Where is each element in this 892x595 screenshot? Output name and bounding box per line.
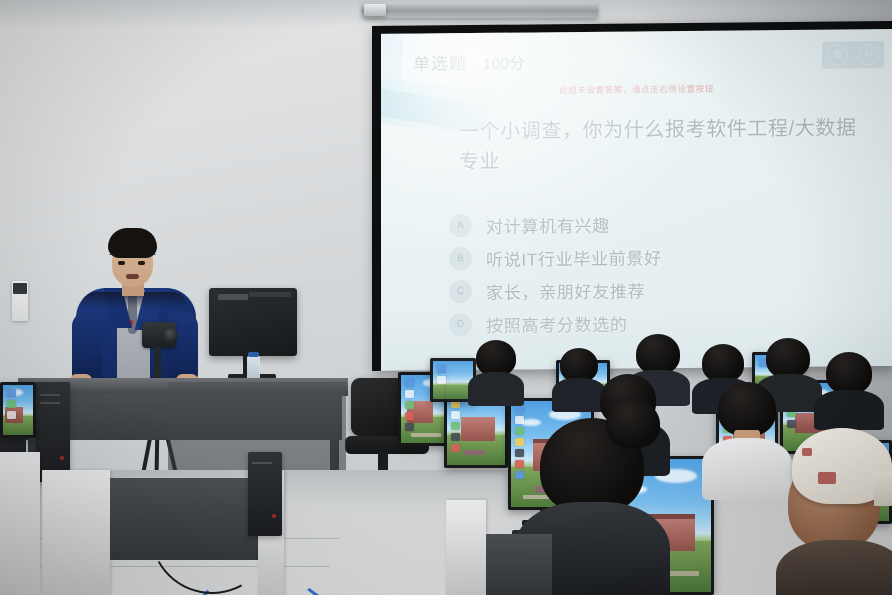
desktop-icon[interactable] <box>7 389 16 397</box>
lecturer <box>76 228 196 388</box>
option-key-b: B <box>449 247 472 270</box>
student-mid-2 <box>718 382 776 478</box>
baseball-cap-logo-2 <box>802 448 812 456</box>
monitor-vent-strip <box>249 292 291 297</box>
desktop-wallpaper <box>3 385 33 435</box>
student-shoulders <box>468 372 524 406</box>
desktop-icon[interactable] <box>405 390 414 398</box>
student-shoulders <box>776 540 892 595</box>
projection-screen-roller <box>362 2 598 18</box>
desktop-icon[interactable] <box>515 438 524 446</box>
desktop-icon[interactable] <box>7 400 16 408</box>
pc-tower-left-1 <box>36 382 70 482</box>
option-text-a: 对计算机有兴趣 <box>486 212 610 238</box>
student-head <box>718 382 776 436</box>
tower-slot <box>40 394 60 396</box>
student-shoulders <box>552 378 606 412</box>
slide-header: 单选题 100分 <box>413 49 525 75</box>
desktop-icon[interactable] <box>405 423 414 431</box>
screenshot-root: 单选题 100分 ⚙ ↻ 此题未设置答案，请点击右侧设置按钮 一个小调查，你为什… <box>0 0 892 595</box>
student-head <box>476 340 516 376</box>
student-head <box>560 348 598 382</box>
water-bottle-cap <box>248 352 259 357</box>
student-head <box>636 334 680 374</box>
desktop-icon[interactable] <box>451 433 460 441</box>
projection-screen: 单选题 100分 ⚙ ↻ 此题未设置答案，请点击右侧设置按钮 一个小调查，你为什… <box>372 21 892 371</box>
settings-gear-icon[interactable]: ⚙ <box>827 44 848 65</box>
desktop-icon[interactable] <box>515 416 524 424</box>
desktop-icon-column[interactable] <box>7 389 20 419</box>
student-back-2 <box>560 348 598 406</box>
desktop-icon[interactable] <box>515 427 524 435</box>
desktop-icon[interactable] <box>405 379 414 387</box>
student-head <box>826 352 872 394</box>
desktop-icon[interactable] <box>437 376 446 384</box>
student-shoulders <box>814 390 884 430</box>
option-b[interactable]: B 听说IT行业毕业前景好 <box>449 238 868 275</box>
lecturer-mouth <box>126 274 139 279</box>
option-text-c: 家长，亲朋好友推荐 <box>486 277 645 304</box>
refresh-timer-icon[interactable]: ↻ <box>858 44 879 65</box>
student-with-cap <box>782 428 892 595</box>
roller-end-cap <box>364 4 386 16</box>
question-text: 一个小调查，你为什么报考软件工程/大数据专业 <box>459 113 860 178</box>
camera-lens-icon <box>164 328 178 342</box>
wallpaper-building <box>461 417 495 441</box>
question-score-label: 100分 <box>483 53 525 74</box>
wall-sensor-device <box>12 281 28 321</box>
student-head <box>702 344 744 382</box>
desk-partition-front-1 <box>446 500 486 595</box>
student-back-1 <box>476 340 516 400</box>
student-head <box>606 400 660 448</box>
student-white-shirt <box>702 438 792 500</box>
wall-sensor-head <box>13 283 27 294</box>
desktop-icon[interactable] <box>787 420 796 428</box>
student-monitor-left-far <box>0 382 36 438</box>
desktop-icon[interactable] <box>437 365 446 373</box>
tower-power-led <box>60 456 64 460</box>
desktop-icon[interactable] <box>515 471 524 479</box>
desktop-icon[interactable] <box>451 422 460 430</box>
desktop-wallpaper <box>433 361 473 399</box>
slide-toolbar[interactable]: ⚙ ↻ <box>822 41 884 69</box>
option-text-b: 听说IT行业毕业前景好 <box>486 244 662 271</box>
monitor-brand-logo <box>218 294 248 300</box>
option-a[interactable]: A 对计算机有兴趣 <box>449 205 868 242</box>
desktop-icon-column[interactable] <box>437 365 450 384</box>
student-desk-front <box>486 534 552 595</box>
no-answer-warning: 此题未设置答案，请点击右侧设置按钮 <box>381 81 892 98</box>
desktop-icon[interactable] <box>451 411 460 419</box>
baseball-cap-brim <box>874 472 892 506</box>
desktop-icon[interactable] <box>515 405 524 413</box>
tower-slot <box>40 402 60 404</box>
desktop-icon[interactable] <box>451 444 460 452</box>
desktop-icon[interactable] <box>515 449 524 457</box>
desktop-icon[interactable] <box>405 412 414 420</box>
desktop-icon[interactable] <box>405 401 414 409</box>
tower-slot <box>252 462 272 464</box>
student-mid-3 <box>606 400 660 470</box>
wallpaper-lawn <box>433 385 473 399</box>
baseball-cap-logo <box>818 472 836 484</box>
option-key-c: C <box>449 280 472 303</box>
desktop-icon-column[interactable] <box>515 405 528 479</box>
desktop-icon[interactable] <box>7 411 16 419</box>
wallpaper-flowerbed <box>463 450 485 455</box>
desktop-icon-column[interactable] <box>405 379 418 431</box>
option-key-a: A <box>449 214 472 237</box>
option-c[interactable]: C 家长，亲朋好友推荐 <box>449 271 868 308</box>
wallpaper-path <box>411 433 441 437</box>
student-back-6 <box>826 352 872 418</box>
student-head <box>766 338 810 378</box>
slide-surface: 单选题 100分 ⚙ ↻ 此题未设置答案，请点击右侧设置按钮 一个小调查，你为什… <box>381 29 892 371</box>
desktop-icon[interactable] <box>515 460 524 468</box>
lecture-monitor <box>209 288 297 356</box>
desk-partition-left-0 <box>0 452 40 595</box>
lecturer-hair <box>108 228 157 258</box>
question-type-label: 单选题 <box>413 49 467 75</box>
